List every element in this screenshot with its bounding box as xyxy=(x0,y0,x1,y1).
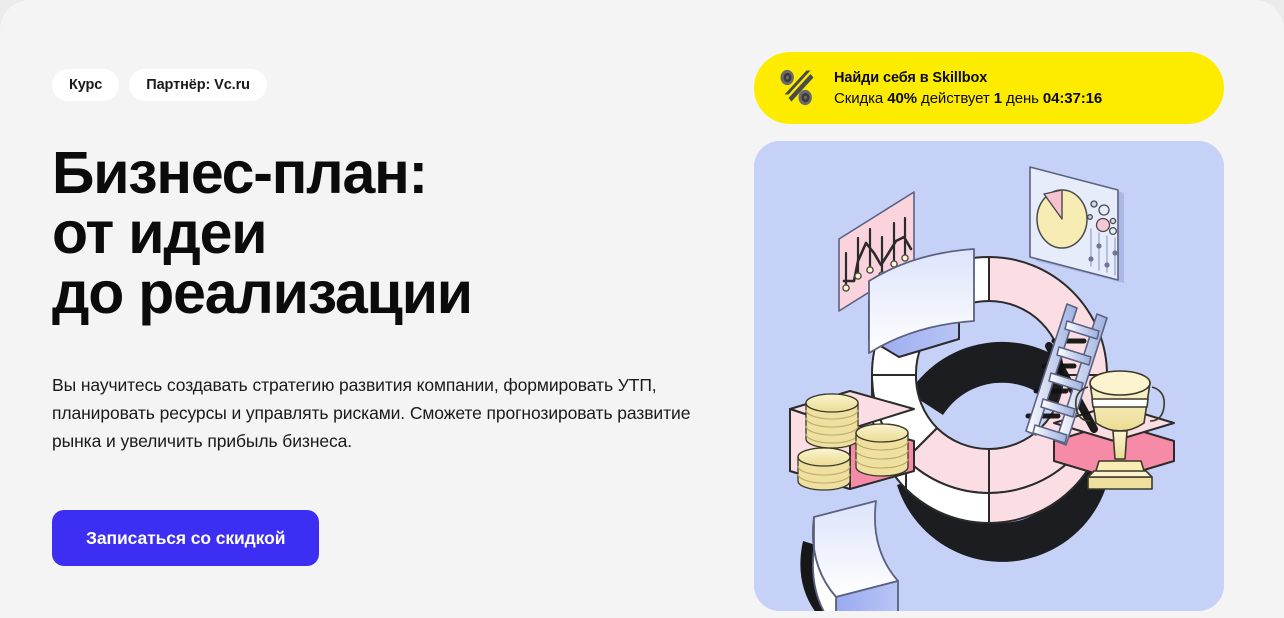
course-illustration-card xyxy=(754,141,1224,611)
coin-stack-short xyxy=(798,448,850,490)
promo-discount-prefix: Скидка xyxy=(834,90,887,107)
promo-days-value: 1 xyxy=(994,90,1002,107)
promo-text-block: Найди себя в Skillbox Скидка 40% действу… xyxy=(834,70,1102,107)
page-title: Бизнес-план: от идеи до реализации xyxy=(52,143,712,323)
badge-partner[interactable]: Партнёр: Vc.ru xyxy=(129,69,267,101)
badge-row: Курс Партнёр: Vc.ru xyxy=(52,69,712,101)
page-card: Курс Партнёр: Vc.ru Бизнес-план: от идеи… xyxy=(0,0,1284,618)
promo-discount-middle: действует xyxy=(917,90,994,107)
enroll-with-discount-button[interactable]: Записаться со скидкой xyxy=(52,510,319,566)
badge-course[interactable]: Курс xyxy=(52,69,119,101)
promo-countdown: Скидка 40% действует 1 день 04:37:16 xyxy=(834,90,1102,107)
promo-timer: 04:37:16 xyxy=(1043,90,1102,107)
promo-days-word: день xyxy=(1002,90,1043,107)
hero-section: Курс Партнёр: Vc.ru Бизнес-план: от идеи… xyxy=(0,0,1284,618)
promo-banner[interactable]: Найди себя в Skillbox Скидка 40% действу… xyxy=(754,52,1224,124)
business-plan-isometric-illustration xyxy=(754,141,1224,611)
coin-stack-tall xyxy=(806,394,858,448)
hero-left-column: Курс Партнёр: Vc.ru Бизнес-план: от идеи… xyxy=(52,69,712,566)
promo-discount-value: 40% xyxy=(887,90,917,107)
hero-right-column: Найди себя в Skillbox Скидка 40% действу… xyxy=(754,52,1224,124)
hero-description: Вы научитесь создавать стратегию развити… xyxy=(52,371,692,455)
promo-title: Найди себя в Skillbox xyxy=(834,70,1102,86)
pie-chart-icon xyxy=(1037,190,1087,248)
coin-stack-mid xyxy=(856,424,908,476)
percent-icon xyxy=(778,68,816,108)
